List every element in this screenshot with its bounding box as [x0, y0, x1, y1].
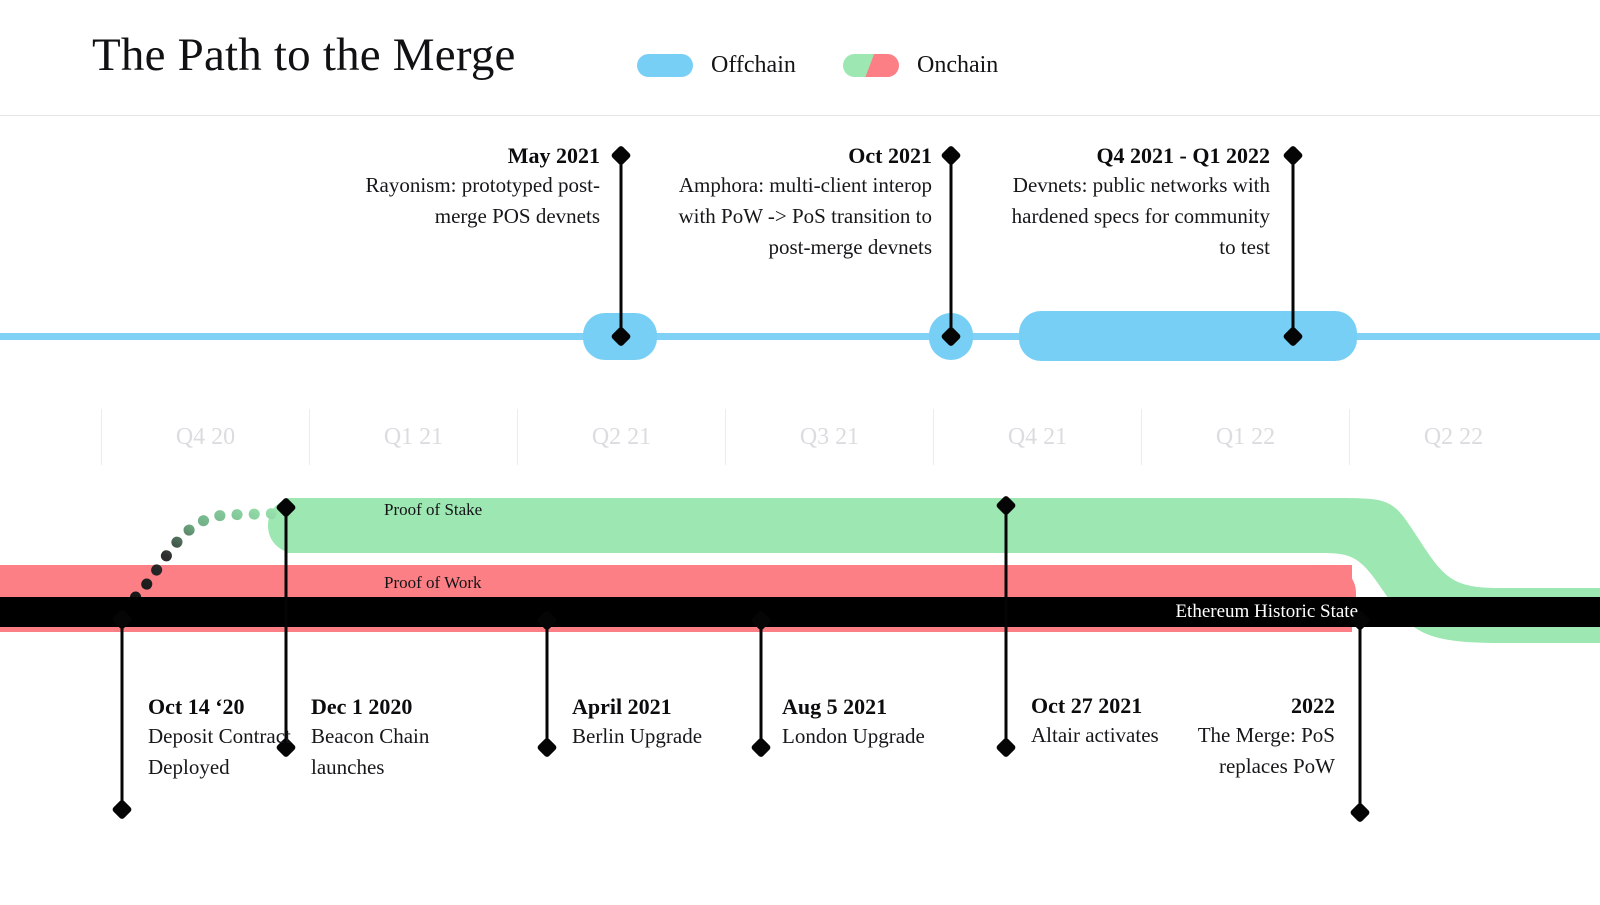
quarter-cell-6: Q2 22	[1349, 409, 1557, 465]
legend-label-offchain: Offchain	[711, 52, 796, 79]
offchain-marker-devnets	[1285, 148, 1301, 342]
onchain-event-the-merge-desc: The Merge: PoS replaces PoW	[1150, 720, 1335, 782]
quarter-label-6: Q2 22	[1424, 424, 1483, 451]
quarter-label-2: Q2 21	[592, 424, 651, 451]
marker-stem	[1292, 155, 1295, 337]
quarter-ruler: Q4 20 Q1 21 Q2 21 Q3 21 Q4 21 Q1 22 Q2 2…	[0, 409, 1600, 465]
onchain-event-berlin[interactable]: April 2021 Berlin Upgrade	[572, 693, 762, 752]
legend-item-offchain: Offchain	[637, 52, 796, 80]
marker-dot-bottom	[1349, 802, 1370, 823]
marker-dot-top	[995, 495, 1016, 516]
quarter-label-5: Q1 22	[1216, 424, 1275, 451]
marker-dot-bottom	[111, 799, 132, 820]
marker-dot-top	[275, 497, 296, 518]
onchain-event-the-merge-date: 2022	[1150, 692, 1335, 720]
quarter-label-1: Q1 21	[384, 424, 443, 451]
marker-dot-top	[536, 610, 557, 631]
marker-stem	[546, 619, 549, 747]
marker-dot-top	[750, 610, 771, 631]
onchain-marker-the-merge	[1352, 613, 1368, 823]
offchain-event-devnets-desc: Devnets: public networks with hardened s…	[1000, 170, 1270, 263]
onchain-event-beacon-chain-desc: Beacon Chain launches	[311, 721, 491, 783]
legend-label-onchain: Onchain	[917, 52, 998, 79]
page-title: The Path to the Merge	[92, 28, 516, 82]
onchain-marker-deposit-contract	[114, 612, 130, 822]
legend-swatch-offchain	[637, 54, 693, 77]
onchain-event-deposit-contract-desc: Deposit Contract Deployed	[148, 721, 298, 783]
band-label-proof-of-work: Proof of Work	[384, 573, 481, 593]
onchain-event-beacon-chain-date: Dec 1 2020	[311, 693, 491, 721]
quarter-cell-1: Q1 21	[309, 409, 517, 465]
onchain-event-the-merge[interactable]: 2022 The Merge: PoS replaces PoW	[1150, 692, 1335, 782]
offchain-marker-amphora	[943, 148, 959, 342]
marker-stem	[620, 155, 623, 337]
quarter-label-3: Q3 21	[800, 424, 859, 451]
marker-dot-bottom	[536, 737, 557, 758]
marker-dot-top	[1282, 145, 1303, 166]
offchain-marker-rayonism	[613, 148, 629, 342]
marker-stem	[121, 618, 124, 810]
offchain-track-line	[0, 333, 1600, 340]
legend-item-onchain: Onchain	[843, 52, 998, 80]
onchain-marker-berlin	[539, 613, 555, 758]
quarter-cell-3: Q3 21	[725, 409, 933, 465]
quarter-cell-5: Q1 22	[1141, 409, 1349, 465]
onchain-event-deposit-contract-date: Oct 14 ‘20	[148, 693, 298, 721]
band-label-proof-of-stake: Proof of Stake	[384, 500, 482, 520]
historic-state-label: Ethereum Historic State	[1175, 601, 1358, 623]
offchain-event-amphora[interactable]: Oct 2021 Amphora: multi-client interop w…	[660, 142, 932, 263]
onchain-event-london-desc: London Upgrade	[782, 721, 982, 752]
quarter-label-0: Q4 20	[176, 424, 235, 451]
offchain-event-rayonism[interactable]: May 2021 Rayonism: prototyped post-merge…	[340, 142, 600, 232]
quarter-label-4: Q4 21	[1008, 424, 1067, 451]
quarter-cell-0: Q4 20	[101, 409, 309, 465]
offchain-event-devnets-date: Q4 2021 - Q1 2022	[1000, 142, 1270, 170]
legend-swatch-onchain	[843, 54, 899, 77]
quarter-cell-4: Q4 21	[933, 409, 1141, 465]
header: The Path to the Merge Offchain Onchain	[0, 0, 1600, 116]
quarter-cell-2: Q2 21	[517, 409, 725, 465]
offchain-event-amphora-date: Oct 2021	[660, 142, 932, 170]
onchain-marker-altair	[998, 498, 1014, 758]
marker-stem	[1005, 504, 1008, 748]
onchain-event-berlin-date: April 2021	[572, 693, 762, 721]
timeline-infographic: The Path to the Merge Offchain Onchain M…	[0, 0, 1600, 905]
offchain-event-devnets[interactable]: Q4 2021 - Q1 2022 Devnets: public networ…	[1000, 142, 1270, 263]
offchain-event-rayonism-date: May 2021	[340, 142, 600, 170]
marker-dot-top	[1349, 610, 1370, 631]
marker-stem	[950, 155, 953, 337]
marker-dot-top	[111, 609, 132, 630]
onchain-event-deposit-contract[interactable]: Oct 14 ‘20 Deposit Contract Deployed	[148, 693, 298, 783]
offchain-pill-devnets[interactable]	[1019, 311, 1357, 361]
marker-dot-top	[940, 145, 961, 166]
offchain-event-rayonism-desc: Rayonism: prototyped post-merge POS devn…	[340, 170, 600, 232]
marker-stem	[1359, 619, 1362, 813]
marker-dot-top	[610, 145, 631, 166]
onchain-event-london-date: Aug 5 2021	[782, 693, 982, 721]
onchain-event-beacon-chain[interactable]: Dec 1 2020 Beacon Chain launches	[311, 693, 491, 783]
marker-dot-bottom	[995, 737, 1016, 758]
onchain-event-berlin-desc: Berlin Upgrade	[572, 721, 762, 752]
offchain-event-amphora-desc: Amphora: multi-client interop with PoW -…	[660, 170, 932, 263]
onchain-event-london[interactable]: Aug 5 2021 London Upgrade	[782, 693, 982, 752]
